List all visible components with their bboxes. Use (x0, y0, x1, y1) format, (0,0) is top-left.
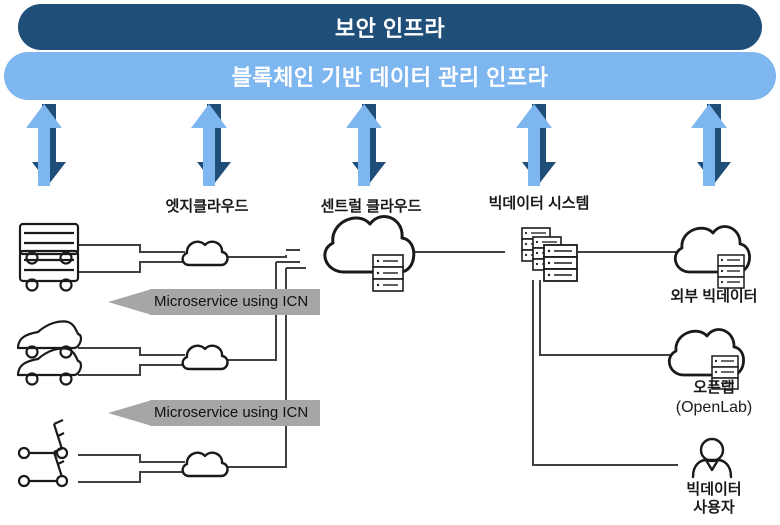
diagram-canvas: 보안 인프라 블록체인 기반 데이터 관리 인프라 (0, 0, 780, 525)
cloud-server-icon (325, 217, 414, 291)
wire-edge1-riser (228, 255, 286, 257)
wire-bus1-edge (78, 245, 185, 252)
cloud-server-icon (675, 227, 749, 288)
microservice-band-upper-label: Microservice using ICN (150, 289, 314, 315)
scooter-icon (19, 420, 67, 458)
cloud-icon (183, 242, 228, 265)
bigdata-user-label: 빅데이터 (652, 481, 776, 498)
microservice-band-lower-label: Microservice using ICN (150, 400, 314, 426)
microservice-band-upper: Microservice using ICN (108, 289, 320, 315)
cloud-icon (183, 346, 228, 369)
openlab-label: 오픈랩 (652, 379, 776, 396)
edge-cloud-label: 엣지클라우드 (152, 198, 262, 215)
cloud-icon (183, 453, 228, 476)
wire-scooter1-edge (78, 455, 185, 462)
bigdata-system-label: 빅데이터 시스템 (466, 195, 612, 212)
wire-bus2-edge (78, 262, 185, 272)
server-stack-icon (522, 228, 577, 281)
bus-icon (20, 224, 78, 264)
bigdata-user-sublabel: 사용자 (652, 499, 776, 516)
wire-scooter2-edge (78, 472, 185, 482)
microservice-band-lower: Microservice using ICN (108, 400, 320, 426)
openlab-sublabel: (OpenLab) (652, 399, 776, 417)
connector-layer (0, 0, 780, 525)
wire-bigdata-user (533, 280, 678, 465)
central-cloud-label: 센트럴 클라우드 (306, 198, 436, 215)
person-icon (693, 439, 731, 477)
external-bigdata-label: 외부 빅데이터 (652, 288, 776, 305)
wire-car1-edge (78, 348, 185, 355)
bus-icon (20, 251, 78, 291)
wire-car2-edge (78, 365, 185, 375)
